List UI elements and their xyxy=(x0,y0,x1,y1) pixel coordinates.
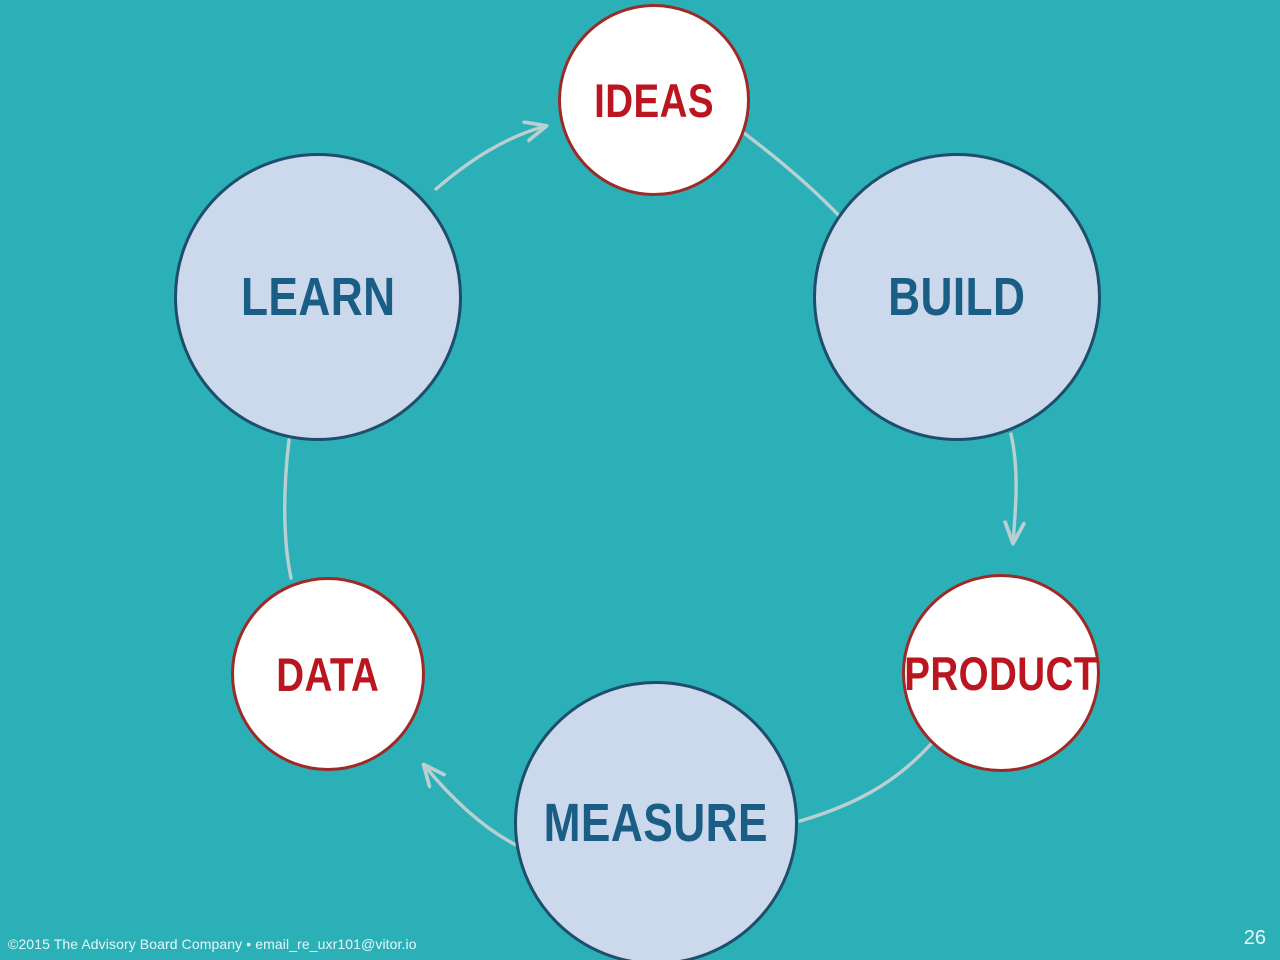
connector-data-to-learn xyxy=(285,440,291,578)
cycle-node-build[interactable]: BUILD xyxy=(813,153,1101,441)
cycle-node-label-learn: LEARN xyxy=(241,270,396,324)
cycle-node-label-build: BUILD xyxy=(888,270,1025,324)
cycle-node-label-data: DATA xyxy=(277,651,380,698)
connector-build-to-product xyxy=(1011,434,1016,543)
cycle-node-measure[interactable]: MEASURE xyxy=(514,681,798,960)
footer-copyright: ©2015 The Advisory Board Company • email… xyxy=(8,936,417,952)
slide-canvas: IDEASBUILDPRODUCTMEASUREDATALEARN ©2015 … xyxy=(0,0,1280,960)
cycle-node-label-measure: MEASURE xyxy=(544,796,768,850)
connector-learn-to-ideas xyxy=(436,126,546,189)
page-number: 26 xyxy=(1244,927,1266,950)
cycle-node-label-ideas: IDEAS xyxy=(594,77,714,124)
connector-product-to-measure xyxy=(800,744,931,821)
cycle-node-ideas[interactable]: IDEAS xyxy=(558,4,750,196)
cycle-node-learn[interactable]: LEARN xyxy=(174,153,462,441)
connector-measure-to-data xyxy=(424,765,516,845)
cycle-node-label-product: PRODUCT xyxy=(904,650,1097,697)
cycle-node-data[interactable]: DATA xyxy=(231,577,425,771)
cycle-node-product[interactable]: PRODUCT xyxy=(902,574,1100,772)
connector-ideas-to-build xyxy=(744,133,852,230)
